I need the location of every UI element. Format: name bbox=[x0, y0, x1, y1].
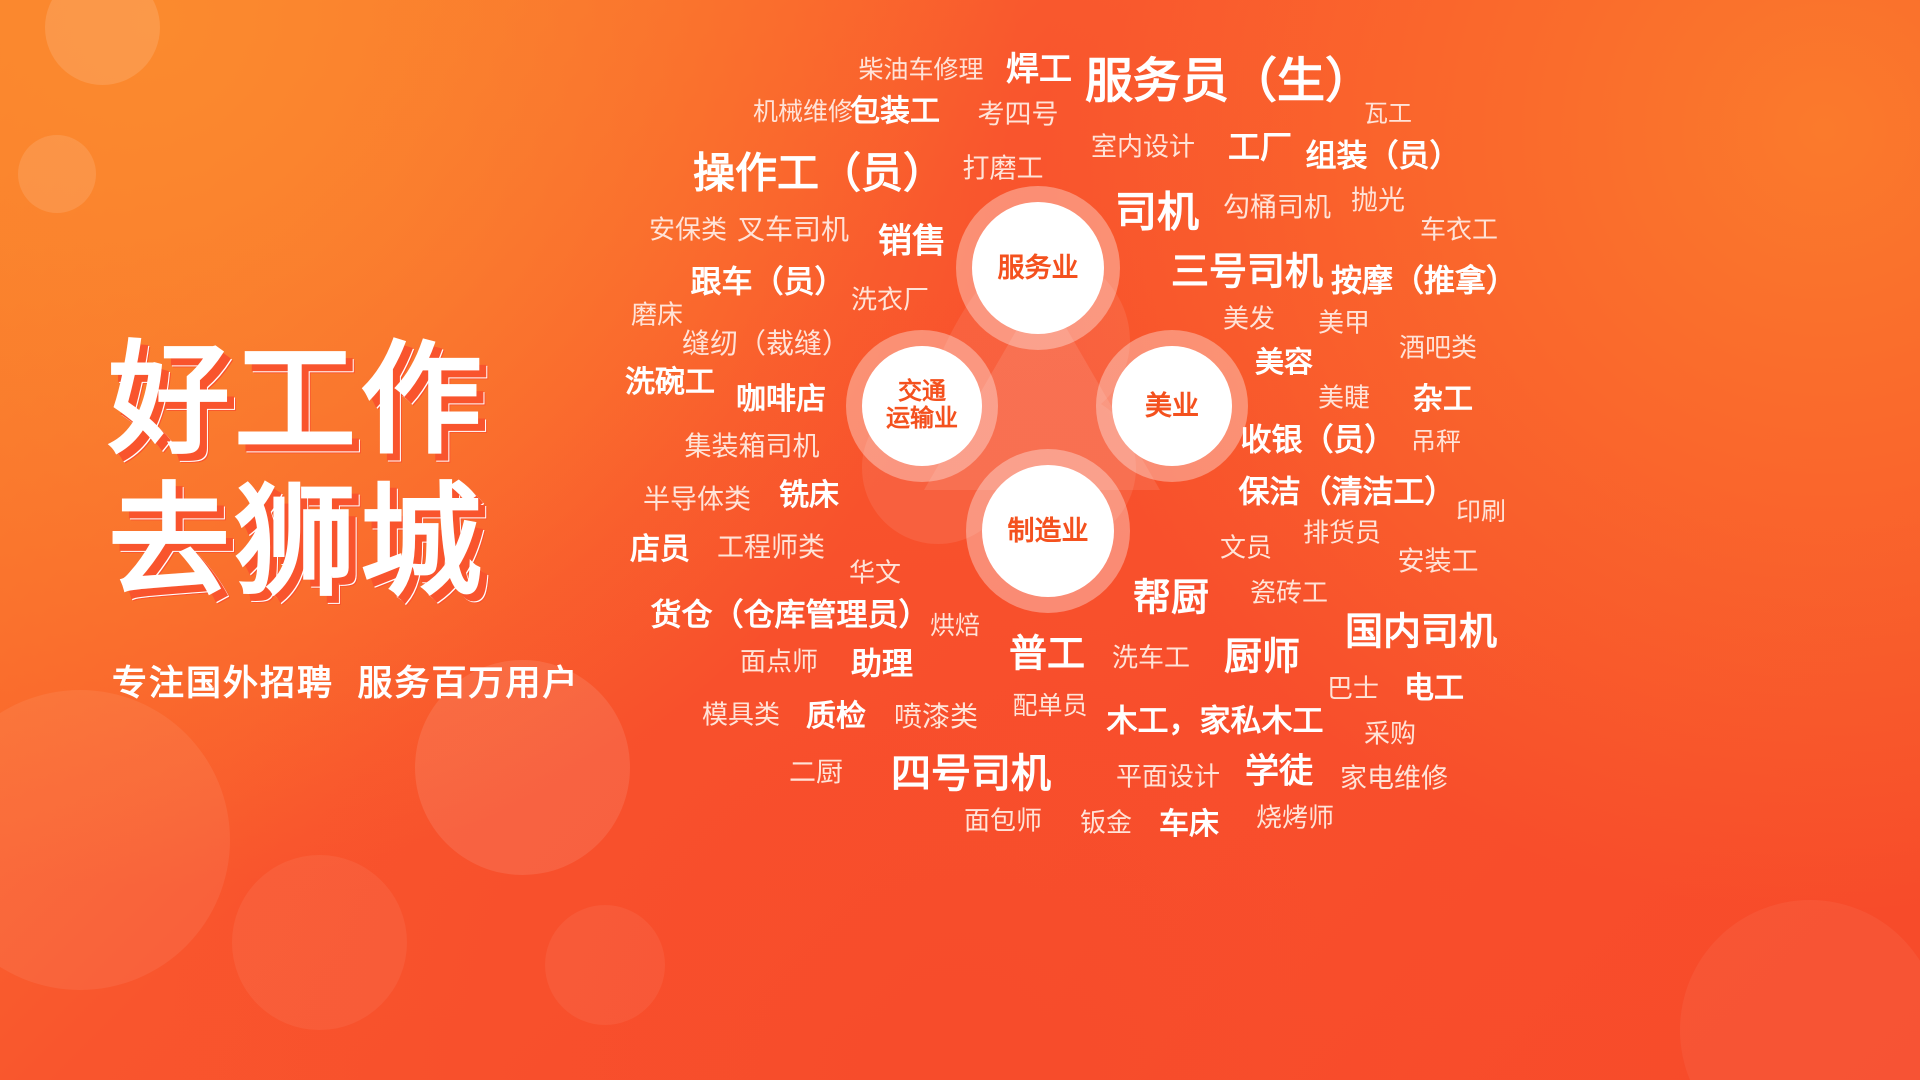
word-cloud-item[interactable]: 厨师 bbox=[1224, 626, 1300, 681]
word-cloud-item[interactable]: 酒吧类 bbox=[1399, 328, 1477, 365]
word-cloud-item[interactable]: 四号司机 bbox=[891, 741, 1051, 799]
word-cloud-item[interactable]: 组装（员） bbox=[1306, 131, 1461, 176]
word-cloud-item[interactable]: 包装工 bbox=[850, 86, 940, 130]
word-cloud-item[interactable]: 采购 bbox=[1364, 714, 1416, 751]
word-cloud-item[interactable]: 二厨 bbox=[789, 751, 843, 790]
word-cloud-item[interactable]: 咖啡店 bbox=[736, 374, 826, 418]
word-cloud-item[interactable]: 烘焙 bbox=[930, 606, 980, 642]
word-cloud-item[interactable]: 工程师类 bbox=[717, 526, 825, 565]
word-cloud-item[interactable]: 烧烤师 bbox=[1256, 798, 1334, 835]
category-bubble[interactable]: 交通 运输业 bbox=[862, 346, 982, 466]
word-cloud-item[interactable]: 助理 bbox=[851, 639, 913, 684]
word-cloud-item[interactable]: 美睫 bbox=[1318, 378, 1370, 415]
word-cloud-item[interactable]: 半导体类 bbox=[643, 478, 751, 517]
word-cloud-item[interactable]: 车床 bbox=[1159, 799, 1219, 843]
word-cloud-item[interactable]: 打磨工 bbox=[963, 147, 1044, 186]
word-cloud-item[interactable]: 安装工 bbox=[1398, 540, 1479, 579]
word-cloud-item[interactable]: 美发 bbox=[1223, 299, 1275, 336]
word-cloud: 柴油车修理焊工服务员（生）机械维修包装工考四号瓦工操作工（员）打磨工室内设计工厂… bbox=[0, 0, 1920, 1080]
word-cloud-item[interactable]: 模具类 bbox=[702, 695, 780, 732]
word-cloud-item[interactable]: 车衣工 bbox=[1420, 210, 1498, 247]
word-cloud-item[interactable]: 喷漆类 bbox=[894, 695, 978, 735]
word-cloud-item[interactable]: 洗车工 bbox=[1112, 638, 1190, 675]
word-cloud-item[interactable]: 司机 bbox=[1115, 179, 1199, 240]
word-cloud-item[interactable]: 配单员 bbox=[1012, 686, 1087, 722]
word-cloud-item[interactable]: 收银（员） bbox=[1241, 415, 1396, 460]
word-cloud-item[interactable]: 保洁（清洁工） bbox=[1239, 467, 1456, 512]
word-cloud-item[interactable]: 洗碗工 bbox=[625, 357, 715, 401]
word-cloud-item[interactable]: 操作工（员） bbox=[693, 140, 945, 201]
category-bubble[interactable]: 服务业 bbox=[972, 202, 1104, 334]
word-cloud-item[interactable]: 华文 bbox=[849, 553, 901, 590]
word-cloud-item[interactable]: 面包师 bbox=[964, 801, 1042, 838]
word-cloud-item[interactable]: 店员 bbox=[630, 524, 690, 568]
word-cloud-item[interactable]: 勾桶司机 bbox=[1223, 186, 1331, 225]
category-bubble[interactable]: 制造业 bbox=[982, 465, 1114, 597]
category-bubble[interactable]: 美业 bbox=[1112, 346, 1232, 466]
word-cloud-item[interactable]: 钣金 bbox=[1080, 803, 1132, 840]
word-cloud-item[interactable]: 焊工 bbox=[1006, 42, 1072, 90]
word-cloud-item[interactable]: 磨床 bbox=[631, 295, 683, 332]
word-cloud-item[interactable]: 工厂 bbox=[1228, 122, 1292, 168]
word-cloud-item[interactable]: 跟车（员） bbox=[691, 257, 846, 302]
word-cloud-item[interactable]: 叉车司机 bbox=[737, 208, 849, 248]
word-cloud-item[interactable]: 铣床 bbox=[779, 470, 839, 514]
word-cloud-item[interactable]: 抛光 bbox=[1351, 179, 1405, 218]
word-cloud-item[interactable]: 巴士 bbox=[1327, 669, 1379, 706]
word-cloud-item[interactable]: 美容 bbox=[1255, 339, 1313, 381]
word-cloud-item[interactable]: 考四号 bbox=[978, 93, 1059, 132]
word-cloud-item[interactable]: 吊秤 bbox=[1411, 422, 1461, 458]
word-cloud-item[interactable]: 三号司机 bbox=[1171, 241, 1323, 296]
word-cloud-item[interactable]: 家电维修 bbox=[1340, 757, 1448, 796]
word-cloud-item[interactable]: 服务员（生） bbox=[1085, 41, 1373, 111]
word-cloud-item[interactable]: 电工 bbox=[1404, 663, 1464, 707]
word-cloud-item[interactable]: 货仓（仓库管理员） bbox=[651, 590, 930, 635]
promo-banner: 好工作 去狮城 专注国外招聘 服务百万用户 柴油车修理焊工服务员（生）机械维修包… bbox=[0, 0, 1920, 1080]
word-cloud-item[interactable]: 木工，家私木工 bbox=[1107, 696, 1324, 741]
word-cloud-item[interactable]: 集装箱司机 bbox=[685, 425, 820, 464]
word-cloud-item[interactable]: 平面设计 bbox=[1116, 757, 1220, 794]
word-cloud-item[interactable]: 文员 bbox=[1220, 528, 1272, 565]
word-cloud-item[interactable]: 按摩（推拿） bbox=[1331, 256, 1517, 301]
word-cloud-item[interactable]: 学徒 bbox=[1245, 744, 1313, 793]
word-cloud-item[interactable]: 杂工 bbox=[1413, 374, 1473, 418]
word-cloud-item[interactable]: 瓦工 bbox=[1364, 94, 1412, 129]
word-cloud-item[interactable]: 安保类 bbox=[649, 210, 727, 247]
word-cloud-item[interactable]: 缝纫（裁缝） bbox=[682, 322, 850, 362]
word-cloud-item[interactable]: 国内司机 bbox=[1345, 601, 1497, 656]
word-cloud-item[interactable]: 瓷砖工 bbox=[1250, 573, 1328, 610]
word-cloud-item[interactable]: 普工 bbox=[1009, 623, 1085, 678]
word-cloud-item[interactable]: 美甲 bbox=[1318, 303, 1370, 340]
word-cloud-item[interactable]: 帮厨 bbox=[1133, 567, 1209, 622]
word-cloud-item[interactable]: 排货员 bbox=[1303, 513, 1381, 550]
word-cloud-item[interactable]: 柴油车修理 bbox=[858, 50, 983, 86]
word-cloud-item[interactable]: 质检 bbox=[806, 691, 866, 735]
word-cloud-item[interactable]: 印刷 bbox=[1456, 492, 1506, 528]
word-cloud-item[interactable]: 洗衣厂 bbox=[851, 280, 929, 317]
word-cloud-item[interactable]: 面点师 bbox=[740, 642, 818, 679]
word-cloud-item[interactable]: 室内设计 bbox=[1091, 127, 1195, 164]
word-cloud-item[interactable]: 销售 bbox=[878, 214, 946, 263]
word-cloud-item[interactable]: 机械维修 bbox=[753, 92, 853, 128]
